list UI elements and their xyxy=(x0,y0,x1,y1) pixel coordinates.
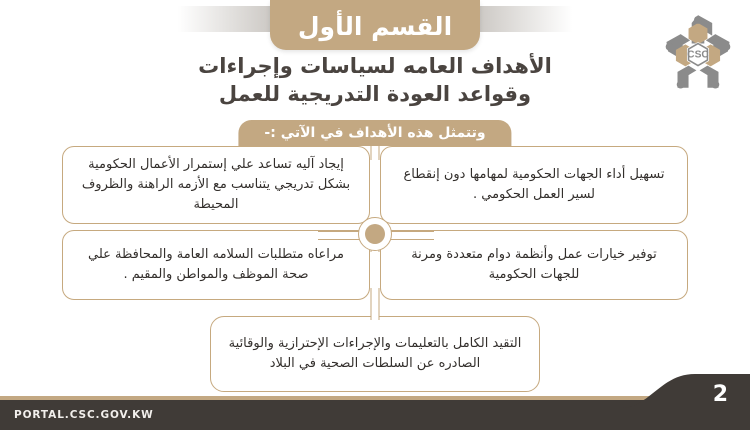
center-node-icon xyxy=(358,217,392,251)
objective-card-text: مراعاه متطلبات السلامه العامة والمحافظة … xyxy=(77,245,355,285)
objective-card-top-left[interactable]: إيجاد آليه تساعد علي إستمرار الأعمال الح… xyxy=(62,146,370,224)
objective-card-middle-right[interactable]: توفير خيارات عمل وأنظمة دوام متعددة ومرن… xyxy=(380,230,688,300)
section-banner: القسم الأول xyxy=(270,0,480,50)
objective-card-bottom-center[interactable]: التقيد الكامل بالتعليمات والإجراءات الإح… xyxy=(210,316,540,392)
page-number: 2 xyxy=(713,384,728,406)
objective-card-text: التقيد الكامل بالتعليمات والإجراءات الإح… xyxy=(225,334,525,374)
connector-vertical-bottom xyxy=(371,288,380,320)
objective-card-middle-left[interactable]: مراعاه متطلبات السلامه العامة والمحافظة … xyxy=(62,230,370,300)
subtitle-pill: وتتمثل هذه الأهداف في الآتي :- xyxy=(238,120,511,146)
objective-card-top-right[interactable]: تسهيل أداء الجهات الحكومية لمهامها دون إ… xyxy=(380,146,688,224)
footer-swoosh-shape xyxy=(620,368,750,430)
page-title-line-1: الأهداف العامه لسياسات وإجراءات xyxy=(198,54,552,78)
page-title-line-2: وقواعد العودة التدريجية للعمل xyxy=(120,81,630,109)
header-banner-area: القسم الأول xyxy=(0,0,750,52)
page-title: الأهداف العامه لسياسات وإجراءات وقواعد ا… xyxy=(0,53,750,108)
banner-tail-right xyxy=(462,6,582,32)
objective-card-text: توفير خيارات عمل وأنظمة دوام متعددة ومرن… xyxy=(395,245,673,285)
section-banner-label: القسم الأول xyxy=(298,14,452,39)
footer-url: PORTAL.CSC.GOV.KW xyxy=(14,409,154,421)
slide-root: القسم الأول CSC xyxy=(0,0,750,430)
objective-card-text: تسهيل أداء الجهات الحكومية لمهامها دون إ… xyxy=(395,165,673,205)
subtitle-label: وتتمثل هذه الأهداف في الآتي :- xyxy=(264,126,485,140)
objective-card-text: إيجاد آليه تساعد علي إستمرار الأعمال الح… xyxy=(77,155,355,215)
